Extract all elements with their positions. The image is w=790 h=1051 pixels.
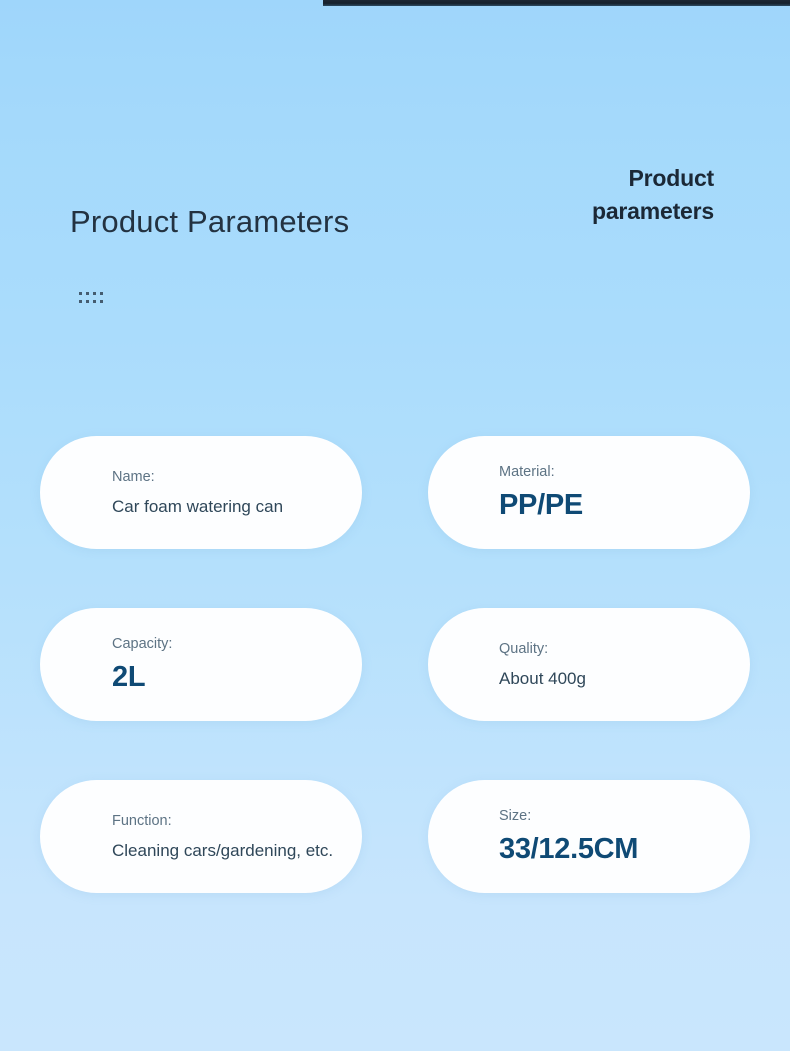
- parameter-card-name: Name: Car foam watering can: [40, 436, 362, 549]
- parameter-value-capacity: 2L: [112, 663, 328, 692]
- parameter-card-quality: Quality: About 400g: [428, 608, 750, 721]
- parameter-value-name: Car foam watering can: [112, 498, 328, 515]
- dot: [86, 292, 89, 295]
- page-subtitle: Product parameters: [454, 162, 714, 228]
- product-parameters-page: Product Parameters Product parameters Na…: [0, 0, 790, 1051]
- dot: [100, 292, 103, 295]
- parameter-card-material: Material: PP/PE: [428, 436, 750, 549]
- dot: [100, 300, 103, 303]
- dot: [79, 300, 82, 303]
- page-title: Product Parameters: [70, 204, 349, 240]
- parameter-card-grid: Name: Car foam watering can Material: PP…: [40, 436, 752, 893]
- parameter-card-capacity: Capacity: 2L: [40, 608, 362, 721]
- parameter-value-size: 33/12.5CM: [499, 835, 716, 864]
- dot: [86, 300, 89, 303]
- dot: [93, 300, 96, 303]
- parameter-label-quality: Quality:: [499, 642, 716, 657]
- parameter-label-name: Name:: [112, 470, 328, 485]
- parameter-card-size: Size: 33/12.5CM: [428, 780, 750, 893]
- previous-section-edge-strip: [323, 0, 790, 6]
- page-subtitle-line-1: Product: [629, 165, 715, 191]
- parameter-value-quality: About 400g: [499, 670, 716, 687]
- page-subtitle-line-2: parameters: [454, 195, 714, 228]
- parameter-value-material: PP/PE: [499, 491, 716, 520]
- dot: [93, 292, 96, 295]
- parameter-label-size: Size:: [499, 809, 716, 824]
- dot-grid-decoration-icon: [79, 292, 104, 304]
- parameter-value-function: Cleaning cars/gardening, etc.: [112, 842, 328, 859]
- parameter-label-material: Material:: [499, 465, 716, 480]
- parameter-label-function: Function:: [112, 814, 328, 829]
- parameter-label-capacity: Capacity:: [112, 637, 328, 652]
- dot: [79, 292, 82, 295]
- parameter-card-function: Function: Cleaning cars/gardening, etc.: [40, 780, 362, 893]
